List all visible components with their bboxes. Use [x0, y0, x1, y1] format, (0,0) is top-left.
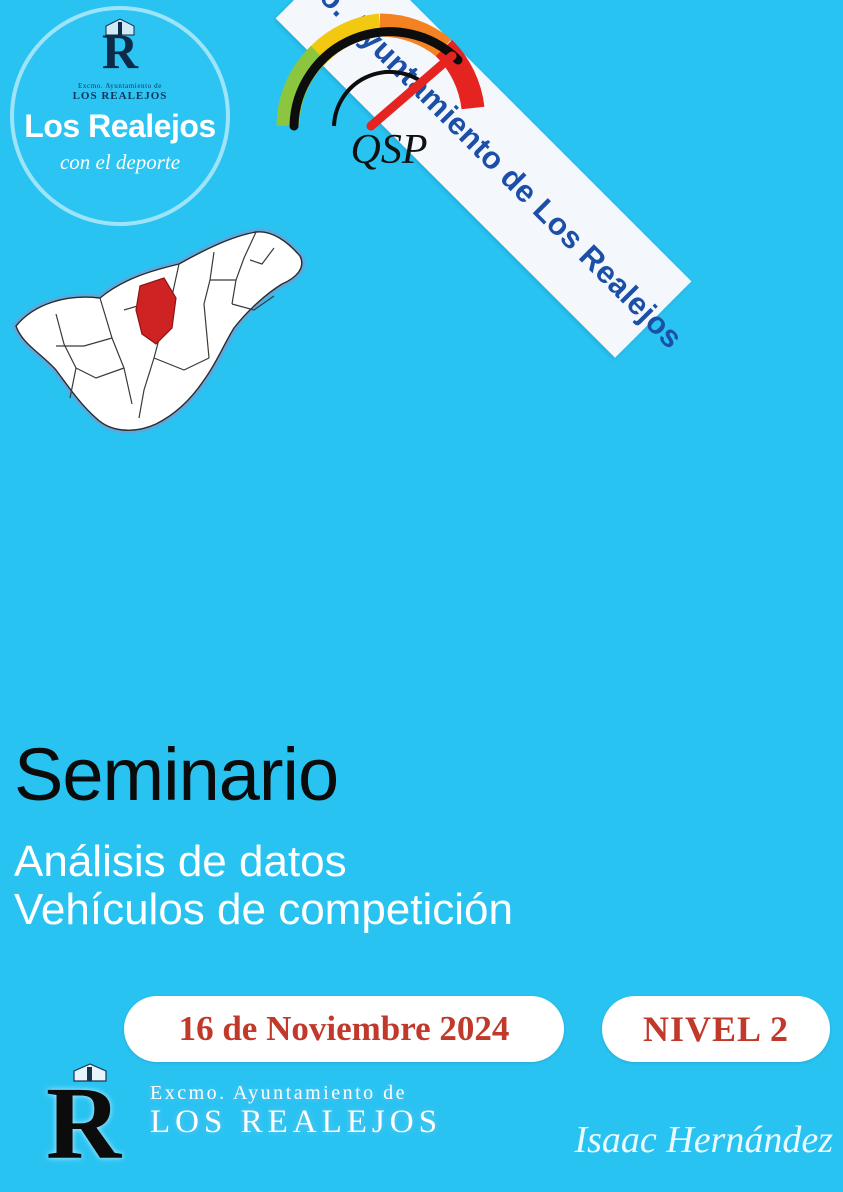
presenter-name: Isaac Hernández — [574, 1118, 833, 1162]
subtitle-line-2: Vehículos de competición — [14, 886, 513, 934]
qsp-label: QSP — [272, 126, 506, 174]
badge-letter: R — [14, 26, 226, 76]
tenerife-map — [4, 218, 324, 443]
qsp-logo: QSP — [272, 8, 506, 186]
level-badge: NIVEL 2 — [602, 996, 830, 1062]
footer-logo: R Excmo. Ayuntamiento de LOS REALEJOS — [22, 1056, 482, 1166]
qsp-gauge-icon — [272, 8, 506, 138]
date-badge-text: 16 de Noviembre 2024 — [179, 1009, 510, 1049]
badge-small-line1: Excmo. Ayuntamiento de — [14, 82, 226, 90]
footer-logo-line2: LOS REALEJOS — [150, 1104, 442, 1141]
footer-logo-line1: Excmo. Ayuntamiento de — [150, 1082, 407, 1105]
badge-main-text: Los Realejos — [14, 108, 226, 145]
poster-root: Inicio Datos Comparación Tablas Página R… — [0, 0, 843, 1192]
badge-small-line2: LOS REALEJOS — [14, 90, 226, 102]
level-badge-text: NIVEL 2 — [643, 1008, 789, 1050]
badge-sub-text: con el deporte — [14, 150, 226, 175]
subtitle-line-1: Análisis de datos — [14, 838, 347, 886]
los-realejos-badge: R Excmo. Ayuntamiento de LOS REALEJOS Lo… — [14, 10, 226, 222]
date-badge: 16 de Noviembre 2024 — [124, 996, 564, 1062]
page-title: Seminario — [14, 738, 338, 812]
footer-logo-letter: R — [46, 1072, 121, 1176]
